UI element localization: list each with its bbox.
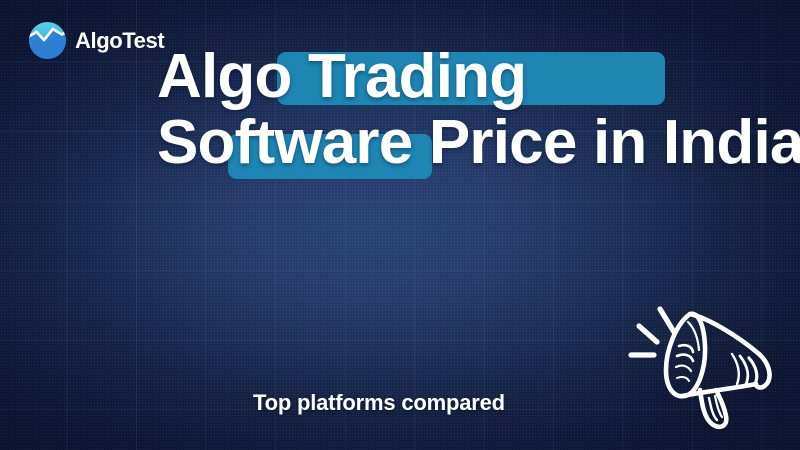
page-title: Algo Trading Software Price in India (157, 44, 800, 176)
headline-line-2-text: Software Price in India (157, 110, 800, 176)
brand-name: AlgoTest (75, 30, 164, 52)
subtitle: Top platforms compared (253, 390, 505, 416)
line-chart-circle-icon (29, 22, 66, 59)
headline-line-2: Software Price in India (157, 110, 800, 176)
megaphone-announcement-icon (616, 292, 788, 432)
headline-line-1-text: Algo Trading (157, 44, 800, 110)
brand-logo[interactable]: AlgoTest (29, 22, 164, 59)
promo-banner: AlgoTest Algo Trading Software Price in … (0, 0, 800, 450)
headline-line-1: Algo Trading (157, 44, 800, 110)
